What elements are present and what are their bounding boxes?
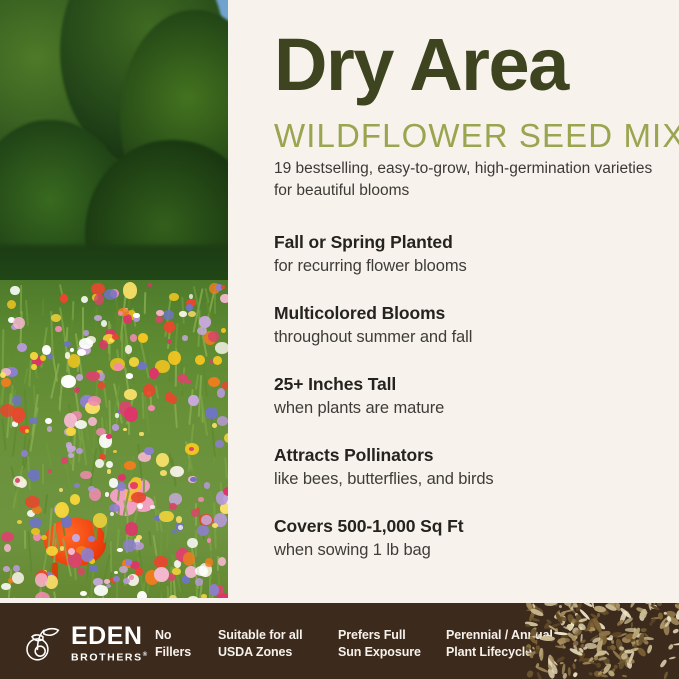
meadow-flower	[182, 335, 188, 340]
meadow-flower	[86, 371, 100, 382]
meadow-flower	[171, 530, 177, 535]
feature-title: Fall or Spring Planted	[274, 230, 674, 254]
brand-name: EDEN	[71, 624, 149, 649]
page-title: Dry Area	[274, 25, 568, 105]
meadow-flower	[60, 294, 68, 302]
meadow-flower	[70, 494, 81, 504]
meadow-flower	[99, 340, 107, 349]
meadow-flower	[109, 504, 120, 513]
seed-particle	[563, 645, 566, 648]
meadow-flower	[123, 578, 130, 584]
meadow-flower	[208, 377, 220, 387]
meadow-flower	[94, 294, 104, 305]
grass-blade	[144, 292, 147, 314]
seed-particle	[558, 605, 562, 609]
meadow-flower	[64, 341, 71, 347]
trademark-symbol: ®	[143, 652, 149, 658]
meadow-flower	[150, 505, 154, 509]
meadow-flower	[93, 513, 108, 528]
meadow-flower	[221, 285, 226, 289]
meadow-flower	[25, 429, 29, 433]
meadow-flower	[48, 469, 52, 472]
product-photo	[0, 0, 228, 612]
brand-wordmark: EDEN BROTHERS®	[71, 624, 149, 663]
meadow-flower	[89, 565, 97, 572]
meadow-flower	[28, 469, 40, 482]
meadow-flower	[29, 417, 37, 423]
meadow-flower	[72, 534, 80, 542]
meadow-flower	[176, 516, 182, 522]
seed-particle	[593, 606, 605, 613]
seed-particle	[541, 636, 555, 641]
meadow-flower	[1, 583, 11, 590]
feature-subtitle: when plants are mature	[274, 396, 674, 420]
grass-blade	[44, 494, 49, 514]
meadow-flower	[7, 300, 16, 309]
meadow-flower	[106, 584, 111, 588]
meadow-flower	[81, 296, 88, 303]
meadow-flower	[123, 314, 132, 324]
meadow-flower	[177, 374, 188, 383]
feature-badges: No FillersSuitable for all USDA ZonesPre…	[155, 627, 576, 660]
meadow-flower	[131, 492, 146, 503]
seed-particle	[636, 647, 647, 658]
meadow-flower	[74, 483, 80, 488]
seed-particle	[584, 643, 597, 650]
meadow-flower	[169, 293, 179, 301]
meadow-flower	[59, 488, 63, 492]
seed-particle	[646, 644, 653, 654]
meadow-flower	[12, 572, 24, 584]
meadow-flower	[46, 546, 58, 556]
meadow-flower	[201, 515, 211, 525]
meadow-flower	[149, 368, 159, 379]
feature-list: Fall or Spring Plantedfor recurring flow…	[274, 230, 674, 585]
meadow-flower	[209, 584, 219, 596]
seed-particle	[657, 603, 662, 606]
meadow-flower	[114, 363, 123, 371]
meadow-flower	[125, 345, 132, 353]
grass-blade	[42, 464, 44, 484]
meadow-flower	[1, 378, 10, 387]
meadow-flower	[125, 559, 132, 566]
grass-blade	[202, 360, 208, 397]
meadow-flower	[130, 482, 138, 488]
grass-blade	[24, 530, 26, 549]
seed-particle	[659, 658, 668, 668]
grass-blade	[210, 412, 216, 457]
seed-particle	[663, 672, 668, 679]
grass-blade	[175, 404, 179, 428]
seed-particle	[641, 628, 647, 632]
meadow-flower	[17, 520, 22, 524]
meadow-flower	[47, 426, 52, 432]
meadow-flower	[124, 389, 137, 400]
grass-blade	[25, 300, 29, 326]
grass-blade	[51, 363, 61, 399]
seed-particle	[668, 644, 675, 651]
meadow-flower	[3, 566, 10, 572]
grass-blade	[110, 541, 112, 572]
meadow-flower	[163, 310, 175, 320]
meadow-flower	[15, 478, 20, 483]
meadow-flower	[124, 407, 138, 423]
meadow-flower	[136, 535, 142, 540]
meadow-flower	[221, 328, 226, 333]
feature-title: Attracts Pollinators	[274, 443, 674, 467]
grass-blade	[15, 485, 19, 516]
meadow-flower	[113, 576, 121, 582]
meadow-flower	[55, 326, 62, 332]
meadow-flower	[106, 434, 112, 439]
meadow-flower	[168, 351, 181, 365]
feature-title: 25+ Inches Tall	[274, 372, 674, 396]
meadow-flower	[30, 352, 37, 360]
meadow-flower	[208, 331, 219, 342]
meadow-flower	[179, 311, 186, 318]
seed-particle	[641, 609, 648, 620]
meadow-flower	[205, 558, 214, 567]
meadow-flower	[164, 321, 175, 333]
meadow-flower	[155, 316, 163, 323]
meadow-flower	[42, 345, 51, 355]
meadow-flower	[29, 518, 42, 528]
meadow-flower	[198, 497, 204, 501]
meadow-flower	[70, 348, 74, 352]
sprout-seed-icon	[22, 623, 62, 663]
meadow-flower	[124, 461, 136, 470]
grass-blade	[152, 535, 157, 556]
meadow-flower	[13, 317, 25, 330]
seed-particle	[588, 672, 593, 676]
meadow-flower	[212, 423, 217, 428]
meadow-flower	[159, 511, 173, 523]
seed-particle	[536, 672, 543, 679]
meadow-flower	[17, 343, 27, 352]
product-description: 19 bestselling, easy-to-grow, high-germi…	[274, 158, 664, 202]
grass-blade	[143, 476, 145, 495]
feature-item: Fall or Spring Plantedfor recurring flow…	[274, 230, 674, 278]
meadow-flower	[188, 311, 196, 317]
meadow-flower	[21, 450, 28, 457]
seed-particle	[614, 665, 618, 669]
product-marketing-card: Dry Area WILDFLOWER SEED MIX 19 bestsell…	[0, 0, 679, 679]
meadow-flower	[186, 304, 193, 311]
feature-item: Multicolored Bloomsthroughout summer and…	[274, 301, 674, 349]
brand-subname: BROTHERS®	[71, 652, 149, 663]
meadow-flower	[12, 407, 26, 423]
badge-item: No Fillers	[155, 627, 218, 660]
feature-item: Attracts Pollinatorslike bees, butterfli…	[274, 443, 674, 491]
meadow-flower	[215, 440, 224, 448]
meadow-flower	[81, 548, 94, 562]
meadow-flower	[118, 474, 126, 481]
meadow-flower	[217, 416, 228, 426]
seed-particle	[574, 659, 577, 663]
meadow-flower	[45, 418, 52, 425]
meadow-flower	[190, 477, 196, 482]
meadow-flower	[199, 316, 211, 327]
meadow-flower	[212, 523, 218, 528]
meadow-flower	[167, 339, 172, 344]
meadow-flower	[220, 294, 228, 304]
meadow-flower	[112, 424, 120, 431]
seed-particle	[568, 667, 571, 676]
meadow-flower	[76, 374, 83, 381]
grass-blade	[148, 531, 151, 546]
meadow-flower	[207, 538, 212, 543]
badge-item: Prefers Full Sun Exposure	[338, 627, 446, 660]
meadow-flower	[40, 355, 46, 361]
feature-subtitle: throughout summer and fall	[274, 325, 674, 349]
meadow-flower	[204, 482, 211, 488]
grass-blade	[41, 298, 43, 315]
feature-item: Covers 500-1,000 Sq Ftwhen sowing 1 lb b…	[274, 514, 674, 562]
meadow-flower	[160, 470, 167, 476]
meadow-flower	[130, 334, 137, 342]
feature-subtitle: when sowing 1 lb bag	[274, 538, 674, 562]
grass-blade	[45, 442, 53, 470]
meadow-flower	[191, 509, 199, 517]
meadow-flower	[68, 548, 75, 555]
seed-particle	[524, 623, 529, 627]
meadow-flower	[97, 382, 106, 389]
meadow-flower	[115, 413, 119, 417]
meadow-flower	[197, 327, 207, 335]
grass-blade	[128, 421, 130, 435]
seed-particle	[531, 646, 534, 649]
meadow-flower	[31, 364, 36, 370]
grass-blade	[32, 394, 40, 436]
meadow-flower	[4, 544, 12, 552]
meadow-flower	[55, 502, 69, 518]
meadow-flower	[221, 382, 228, 389]
meadow-flower	[205, 407, 218, 419]
meadow-flower	[113, 450, 117, 453]
meadow-flower	[83, 330, 89, 335]
meadow-flower	[61, 516, 71, 528]
meadow-flower	[114, 571, 118, 574]
meadow-flower	[123, 282, 137, 299]
meadow-flower	[172, 568, 180, 575]
meadow-flower	[123, 539, 136, 552]
meadow-flower	[95, 459, 104, 468]
seed-particle	[605, 650, 611, 656]
meadow-flower	[104, 579, 110, 584]
meadow-flower	[213, 356, 222, 365]
seed-particle	[526, 669, 534, 677]
meadow-flower	[10, 286, 19, 296]
meadow-flower	[154, 567, 169, 582]
meadow-flower	[156, 310, 164, 316]
seed-particle	[669, 656, 676, 660]
meadow-flower	[189, 294, 193, 299]
meadow-flower	[144, 447, 154, 454]
feature-subtitle: for recurring flower blooms	[274, 254, 674, 278]
meadow-flower	[215, 342, 228, 354]
seed-particle	[673, 628, 679, 634]
content-panel: Dry Area WILDFLOWER SEED MIX 19 bestsell…	[228, 0, 679, 612]
meadow-flower	[76, 448, 83, 454]
grass-blade	[155, 385, 159, 400]
bottom-bar: EDEN BROTHERS® No FillersSuitable for al…	[0, 603, 679, 679]
meadow-flower	[80, 591, 87, 596]
grass-blade	[137, 444, 143, 481]
meadow-flower	[77, 349, 87, 356]
grass-blade	[160, 533, 163, 556]
meadow-flower	[77, 568, 85, 576]
meadow-flower	[220, 503, 228, 513]
meadow-flower	[109, 478, 119, 487]
meadow-flower	[12, 395, 22, 406]
meadow-flower	[218, 557, 226, 566]
meadow-flower	[169, 503, 177, 510]
meadow-flower	[65, 352, 71, 358]
meadow-flower	[61, 457, 68, 464]
feature-title: Covers 500-1,000 Sq Ft	[274, 514, 674, 538]
seed-pile-image	[524, 603, 679, 679]
feature-subtitle: like bees, butterflies, and birds	[274, 467, 674, 491]
meadow-flower	[74, 387, 80, 393]
meadow-flower	[51, 314, 61, 322]
grass-blade	[2, 329, 5, 373]
meadow-flower	[88, 417, 97, 427]
meadow-flower	[143, 384, 155, 397]
meadow-flower	[31, 528, 40, 535]
product-subtitle: WILDFLOWER SEED MIX	[274, 118, 679, 154]
meadow-flower	[119, 566, 128, 573]
brand-subname-text: BROTHERS	[71, 651, 143, 663]
meadow-flower	[107, 469, 112, 474]
meadow-flower	[217, 388, 226, 398]
seed-particle	[621, 674, 626, 677]
seed-particle	[563, 672, 568, 679]
feature-title: Multicolored Blooms	[274, 301, 674, 325]
meadow-flower	[170, 466, 184, 477]
meadow-flower	[126, 373, 134, 379]
meadow-flower	[178, 525, 184, 530]
meadow-flower	[104, 289, 117, 299]
meadow-flower	[195, 355, 205, 365]
meadow-flower	[88, 486, 95, 492]
meadow-flower	[209, 360, 214, 364]
meadow-flower	[105, 492, 109, 496]
meadow-flower	[88, 396, 100, 406]
meadow-flower	[79, 338, 93, 349]
feature-item: 25+ Inches Tallwhen plants are mature	[274, 372, 674, 420]
meadow-flower	[195, 578, 203, 586]
meadow-flower	[188, 395, 198, 406]
meadow-flower	[101, 320, 107, 326]
meadow-flower	[106, 461, 113, 468]
meadow-flower	[1, 532, 14, 542]
meadow-flower	[148, 283, 152, 287]
brand-logo[interactable]: EDEN BROTHERS®	[22, 623, 149, 663]
meadow-flower	[129, 357, 139, 366]
badge-item: Suitable for all USDA Zones	[218, 627, 338, 660]
meadow-flower	[148, 405, 156, 411]
meadow-flower	[41, 535, 47, 539]
seed-particle	[573, 672, 578, 678]
meadow-flower	[117, 548, 123, 552]
meadow-flower	[123, 428, 127, 431]
meadow-flower	[187, 538, 197, 548]
seed-particle	[573, 663, 577, 670]
wildflower-meadow	[0, 280, 228, 612]
meadow-flower	[139, 432, 144, 437]
meadow-flower	[156, 453, 170, 467]
